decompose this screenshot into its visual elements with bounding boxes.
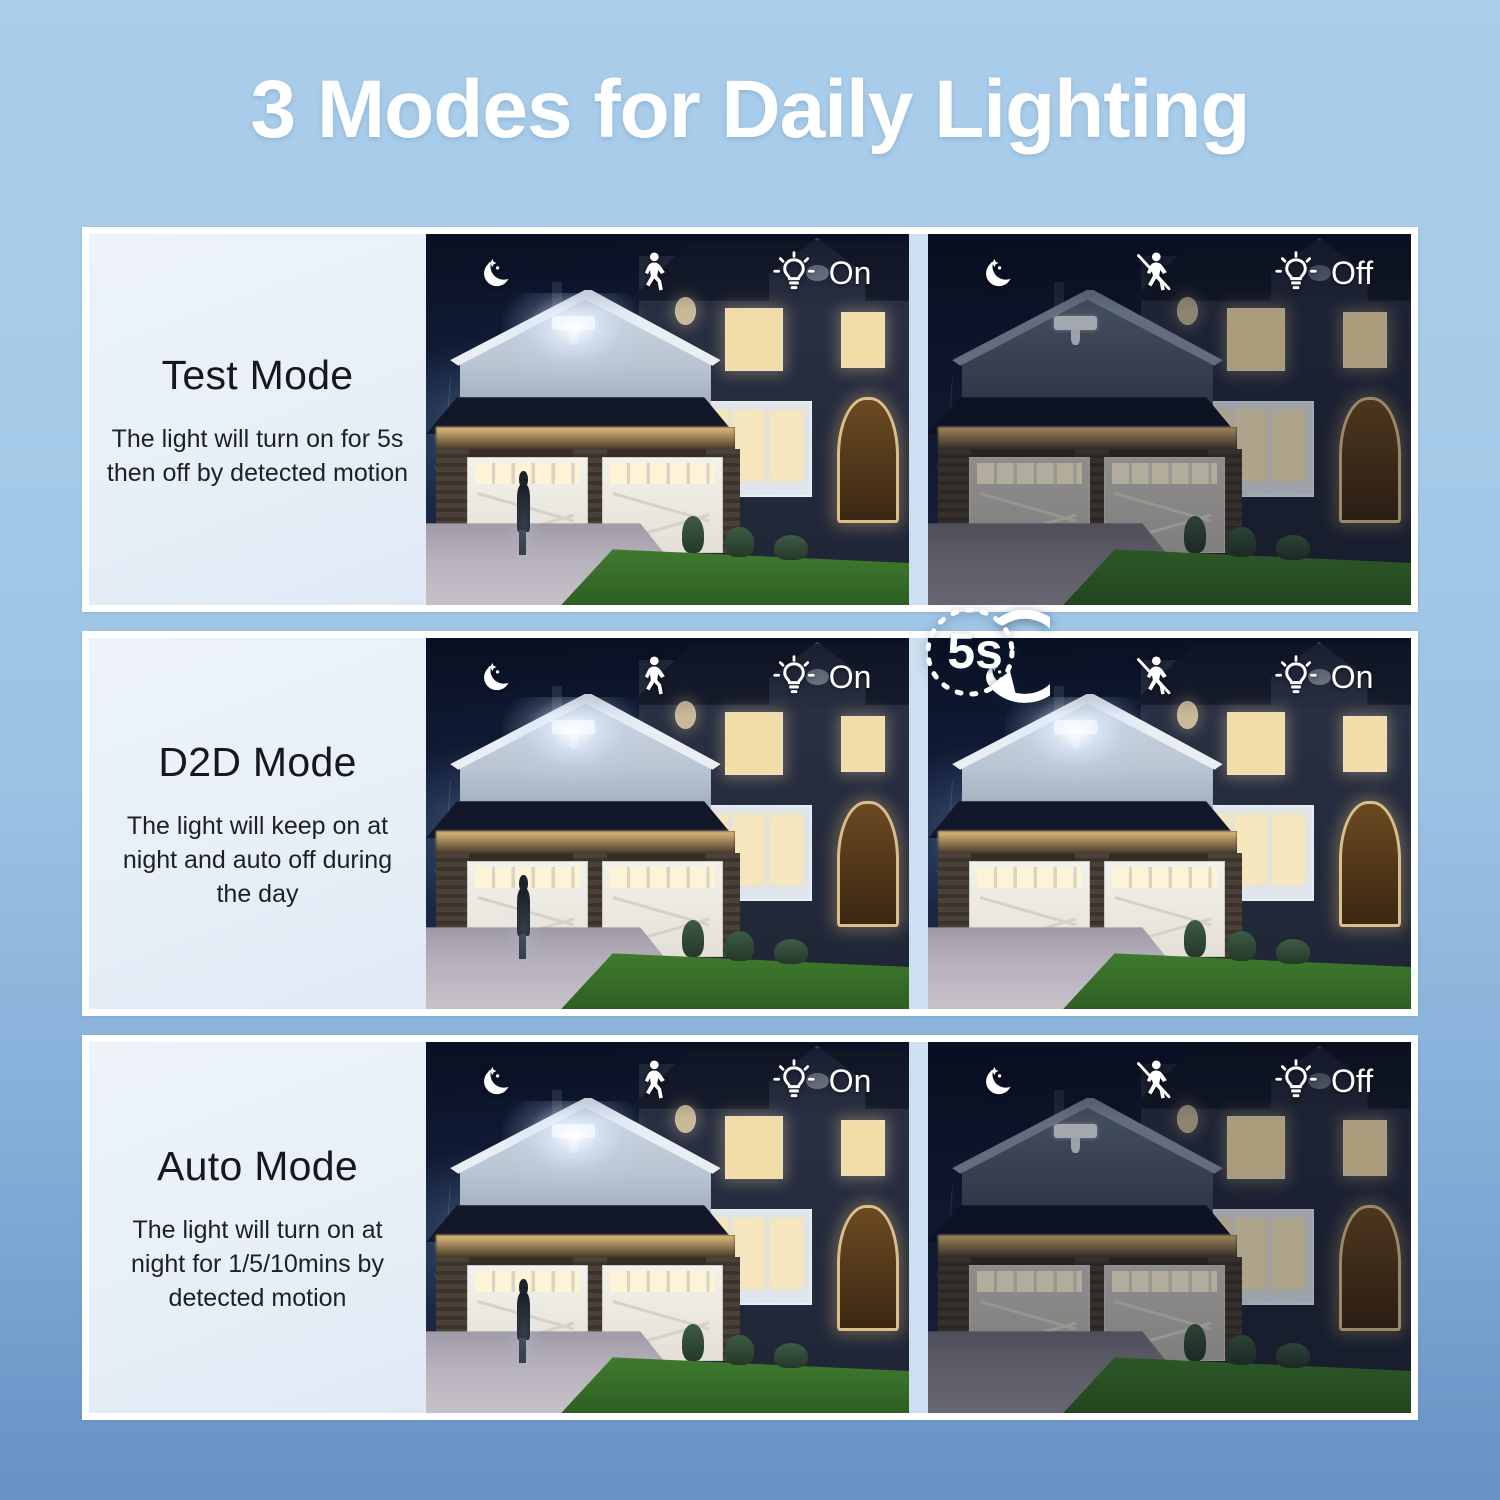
mode-description: The light will turn on at night for 1/5/… [103, 1213, 412, 1315]
lamp-state-label: On [829, 257, 872, 289]
person-legs [519, 1338, 526, 1362]
window-upper-2 [1343, 312, 1386, 368]
status-icon-bar: Off [928, 234, 1411, 312]
soffit-lights [938, 1235, 1237, 1257]
fixture-head [1054, 720, 1097, 734]
no-motion-indicator [1073, 653, 1237, 701]
person-legs [519, 530, 526, 554]
mode-photos: On [426, 234, 1411, 605]
mode-photos: On [426, 638, 1411, 1009]
soffit-lights [938, 831, 1237, 853]
night-indicator [928, 656, 1073, 698]
garage-window-strip [610, 1271, 715, 1292]
light-bulb-icon [1275, 1059, 1317, 1103]
garage-window-strip [1112, 1271, 1217, 1292]
bay-pane-3 [1272, 1218, 1305, 1288]
mode-info-panel: Auto Mode The light will turn on at nigh… [89, 1042, 426, 1413]
mode-description: The light will keep on at night and auto… [103, 809, 412, 911]
status-icon-bar: On [426, 234, 909, 312]
window-upper-2 [841, 1120, 884, 1176]
moon-stars-icon [477, 1060, 519, 1102]
night-indicator [426, 252, 571, 294]
motion-indicator [571, 249, 735, 297]
shrub-1 [682, 516, 704, 553]
person-body [517, 1293, 530, 1340]
person-head [519, 875, 528, 891]
shrub-2 [725, 527, 754, 557]
walking-person-icon [632, 249, 674, 297]
security-light-fixture [1054, 316, 1097, 346]
person-head [519, 471, 528, 487]
mode-title: Test Mode [162, 350, 354, 400]
lamp-status: On [735, 1059, 909, 1103]
garage-window-strip [1112, 867, 1217, 888]
bay-pane-3 [1272, 410, 1305, 480]
window-upper-1 [725, 1116, 783, 1179]
shrub-2 [1227, 1335, 1256, 1365]
shrub-1 [1184, 1324, 1206, 1361]
mode-info-panel: Test Mode The light will turn on for 5s … [89, 234, 426, 605]
fixture-head [552, 1124, 595, 1138]
window-upper-2 [1343, 1120, 1386, 1176]
garage-window-strip [1112, 463, 1217, 484]
fixture-stem [1071, 329, 1080, 345]
fixture-head [1054, 1124, 1097, 1138]
garage-window-strip [977, 867, 1082, 888]
mode-scene-inactive: Off [928, 1042, 1411, 1413]
fixture-stem [1071, 733, 1080, 749]
night-indicator [928, 252, 1073, 294]
window-upper-1 [1227, 1116, 1285, 1179]
soffit-lights [436, 831, 735, 853]
shrub-1 [682, 920, 704, 957]
fixture-stem [1071, 1137, 1080, 1153]
garage-window-strip [977, 463, 1082, 484]
status-icon-bar: On [426, 1042, 909, 1120]
mode-photos: On [426, 1042, 1411, 1413]
garage-window-strip [610, 867, 715, 888]
shrub-1 [682, 1324, 704, 1361]
lamp-status: On [735, 251, 909, 295]
window-upper-1 [725, 308, 783, 371]
mode-row: Auto Mode The light will turn on at nigh… [82, 1035, 1418, 1420]
window-upper-2 [1343, 716, 1386, 772]
light-bulb-icon [1275, 655, 1317, 699]
lamp-state-label: Off [1331, 257, 1373, 289]
moon-stars-icon [477, 656, 519, 698]
shrub-3 [1276, 535, 1310, 561]
window-upper-1 [725, 712, 783, 775]
security-light-fixture [552, 720, 595, 750]
status-icon-bar: On [426, 638, 909, 716]
night-indicator [928, 1060, 1073, 1102]
light-bulb-icon [773, 655, 815, 699]
night-indicator [426, 1060, 571, 1102]
moon-stars-icon [979, 656, 1021, 698]
fixture-head [552, 720, 595, 734]
person-body [517, 889, 530, 936]
front-door [837, 801, 900, 927]
status-icon-bar: On [928, 638, 1411, 716]
mode-row: D2D Mode The light will keep on at night… [82, 631, 1418, 1016]
mode-description: The light will turn on for 5s then off b… [103, 422, 412, 490]
front-door [837, 1205, 900, 1331]
security-light-fixture [552, 1124, 595, 1154]
no-motion-indicator [1073, 1057, 1237, 1105]
moon-stars-icon [477, 252, 519, 294]
shrub-2 [725, 1335, 754, 1365]
mode-info-panel: D2D Mode The light will keep on at night… [89, 638, 426, 1009]
walking-person-crossed-icon [1134, 1057, 1176, 1105]
shrub-3 [774, 939, 808, 965]
modes-list: Test Mode The light will turn on for 5s … [82, 227, 1418, 1420]
lamp-state-label: On [829, 661, 872, 693]
lamp-state-label: Off [1331, 1065, 1373, 1097]
shrub-3 [774, 535, 808, 561]
mode-row: Test Mode The light will turn on for 5s … [82, 227, 1418, 612]
light-bulb-icon [1275, 251, 1317, 295]
lamp-state-label: On [829, 1065, 872, 1097]
light-bulb-icon [773, 251, 815, 295]
lamp-status: On [1237, 655, 1411, 699]
person-head [519, 1279, 528, 1295]
shrub-3 [1276, 1343, 1310, 1369]
mode-scene-active: On [426, 234, 909, 605]
fixture-stem [569, 1137, 578, 1153]
lamp-status: Off [1237, 251, 1411, 295]
shrub-3 [1276, 939, 1310, 965]
moon-stars-icon [979, 252, 1021, 294]
bay-pane-3 [770, 410, 803, 480]
bay-pane-3 [770, 814, 803, 884]
motion-indicator [571, 1057, 735, 1105]
mode-scene-active: On [426, 638, 909, 1009]
panel-divider [909, 234, 928, 605]
person-body [517, 485, 530, 532]
shrub-2 [725, 931, 754, 961]
shrub-2 [1227, 527, 1256, 557]
bay-pane-3 [770, 1218, 803, 1288]
shrub-1 [1184, 920, 1206, 957]
lamp-status: Off [1237, 1059, 1411, 1103]
mode-scene-active: On [426, 1042, 909, 1413]
garage-window-strip [977, 1271, 1082, 1292]
mode-title: Auto Mode [157, 1141, 358, 1191]
shrub-1 [1184, 516, 1206, 553]
walking-person-icon [632, 1057, 674, 1105]
fixture-stem [569, 733, 578, 749]
front-door [1339, 1205, 1402, 1331]
mode-title: D2D Mode [158, 737, 356, 787]
soffit-lights [938, 427, 1237, 449]
page-title: 3 Modes for Daily Lighting [0, 62, 1500, 158]
moon-stars-icon [979, 1060, 1021, 1102]
security-light-fixture [1054, 720, 1097, 750]
lamp-state-label: On [1331, 661, 1374, 693]
light-bulb-icon [773, 1059, 815, 1103]
security-light-fixture [552, 316, 595, 346]
bay-pane-3 [1272, 814, 1305, 884]
window-upper-1 [1227, 712, 1285, 775]
panel-divider [909, 1042, 928, 1413]
soffit-lights [436, 1235, 735, 1257]
shrub-3 [774, 1343, 808, 1369]
fixture-head [552, 316, 595, 330]
fixture-head [1054, 316, 1097, 330]
soffit-lights [436, 427, 735, 449]
walking-person-icon [632, 653, 674, 701]
mode-scene-inactive: On [928, 638, 1411, 1009]
window-upper-2 [841, 312, 884, 368]
window-upper-2 [841, 716, 884, 772]
fixture-stem [569, 329, 578, 345]
walking-person [513, 1279, 533, 1361]
walking-person [513, 471, 533, 553]
window-upper-1 [1227, 308, 1285, 371]
no-motion-indicator [1073, 249, 1237, 297]
motion-indicator [571, 653, 735, 701]
front-door [1339, 801, 1402, 927]
status-icon-bar: Off [928, 1042, 1411, 1120]
security-light-fixture [1054, 1124, 1097, 1154]
front-door [1339, 397, 1402, 523]
night-indicator [426, 656, 571, 698]
person-legs [519, 934, 526, 958]
mode-scene-inactive: Off [928, 234, 1411, 605]
walking-person-crossed-icon [1134, 249, 1176, 297]
lamp-status: On [735, 655, 909, 699]
shrub-2 [1227, 931, 1256, 961]
panel-divider [909, 638, 928, 1009]
walking-person-crossed-icon [1134, 653, 1176, 701]
front-door [837, 397, 900, 523]
garage-window-strip [610, 463, 715, 484]
walking-person [513, 875, 533, 957]
